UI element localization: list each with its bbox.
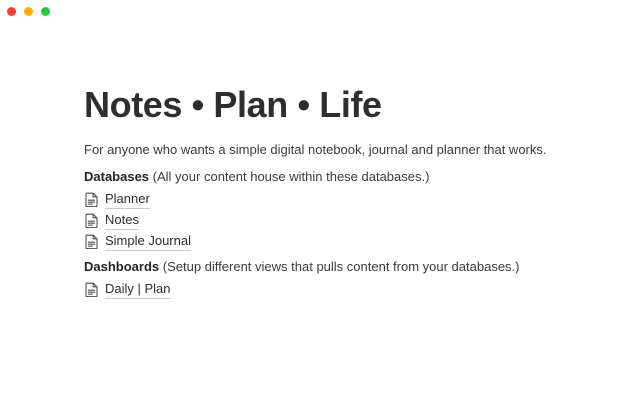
- minimize-button[interactable]: [24, 7, 33, 16]
- document-icon: [85, 282, 98, 297]
- link-daily-plan[interactable]: Daily | Plan: [105, 280, 171, 299]
- section-heading-databases: Databases (All your content house within…: [84, 167, 584, 187]
- document-icon: [85, 192, 98, 207]
- page-content: Notes • Plan • Life For anyone who wants…: [0, 24, 640, 400]
- window-titlebar: [0, 0, 640, 24]
- link-planner[interactable]: Planner: [105, 190, 150, 209]
- link-notes[interactable]: Notes: [105, 211, 139, 230]
- list-item[interactable]: Planner: [84, 189, 584, 210]
- section-note: (All your content house within these dat…: [153, 169, 430, 184]
- maximize-button[interactable]: [41, 7, 50, 16]
- page-title: Notes • Plan • Life: [84, 84, 584, 126]
- list-item[interactable]: Notes: [84, 210, 584, 231]
- link-simple-journal[interactable]: Simple Journal: [105, 232, 191, 251]
- document-icon: [85, 213, 98, 228]
- close-button[interactable]: [7, 7, 16, 16]
- app-window: Notes • Plan • Life For anyone who wants…: [0, 0, 640, 400]
- list-item[interactable]: Simple Journal: [84, 231, 584, 252]
- document-icon: [85, 234, 98, 249]
- dashboards-link-list: Daily | Plan: [84, 279, 584, 300]
- section-label: Dashboards: [84, 259, 159, 274]
- section-label: Databases: [84, 169, 149, 184]
- list-item[interactable]: Daily | Plan: [84, 279, 584, 300]
- section-note: (Setup different views that pulls conten…: [163, 259, 520, 274]
- document-body: Notes • Plan • Life For anyone who wants…: [84, 84, 584, 300]
- page-intro: For anyone who wants a simple digital no…: [84, 140, 584, 160]
- databases-link-list: Planner Notes: [84, 189, 584, 252]
- section-heading-dashboards: Dashboards (Setup different views that p…: [84, 257, 584, 277]
- window-controls: [7, 7, 50, 16]
